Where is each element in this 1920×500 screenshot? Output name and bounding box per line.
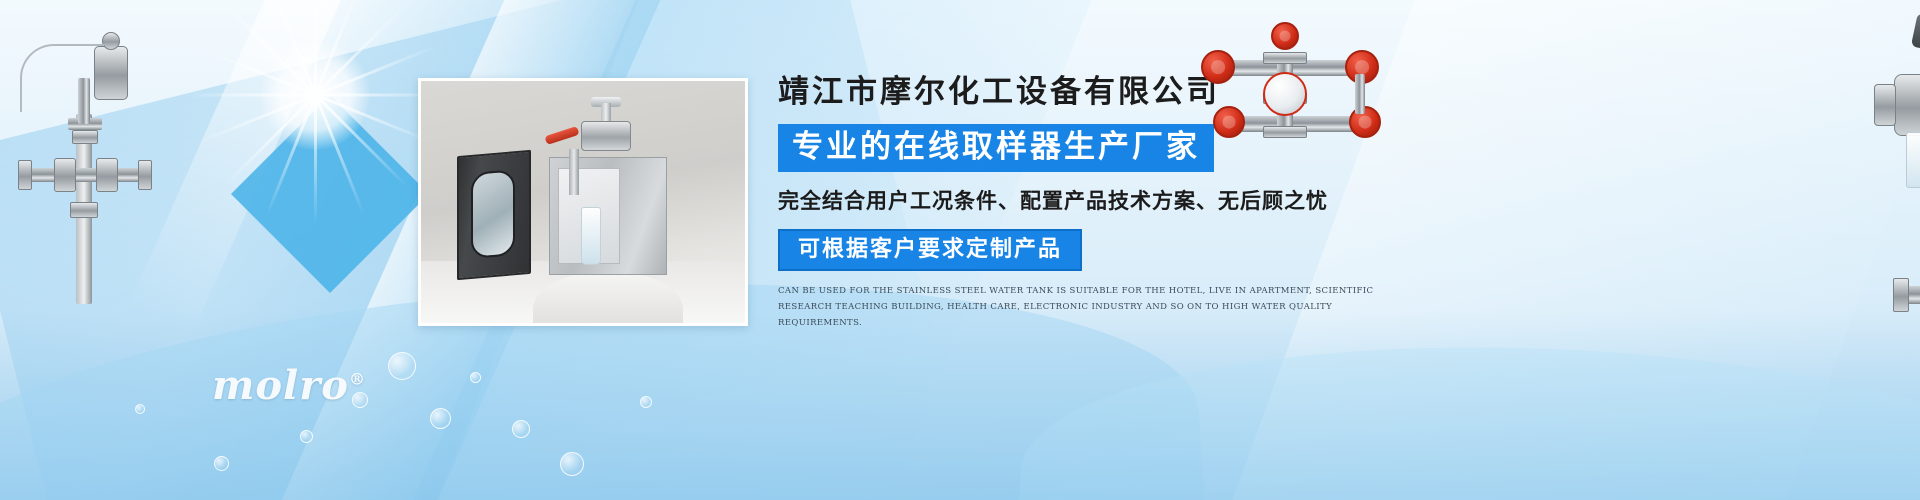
promo-banner: 靖江市摩尔化工设备有限公司 专业的在线取样器生产厂家 完全结合用户工况条件、配置…: [0, 0, 1920, 500]
sunburst-icon: [175, 0, 455, 235]
headline-banner: 专业的在线取样器生产厂家: [778, 124, 1214, 172]
custom-product-tag: 可根据客户要求定制产品: [778, 229, 1082, 271]
bubble-icon: [388, 352, 416, 380]
english-description: Can be used for the stainless steel wate…: [778, 284, 1378, 331]
subheadline: 完全结合用户工况条件、配置产品技术方案、无后顾之忧: [778, 185, 1418, 215]
bubble-icon: [430, 408, 451, 429]
registered-mark-icon: ®: [349, 370, 366, 389]
bubble-icon: [214, 456, 229, 471]
bubble-icon: [512, 420, 530, 438]
bubble-icon: [560, 452, 584, 476]
right-bottom-equipment-image: [1895, 230, 1920, 410]
bubble-icon: [300, 430, 313, 443]
bubble-icon: [470, 372, 481, 383]
bubble-icon: [135, 404, 145, 414]
right-mid-equipment-image: [1880, 28, 1920, 228]
watermark-text: molro: [212, 362, 349, 409]
left-equipment-image: [10, 18, 170, 308]
product-photo: [418, 78, 748, 326]
watermark-logo: molro®: [212, 362, 366, 409]
bubble-icon: [640, 396, 652, 408]
right-top-equipment-image: [1205, 30, 1385, 160]
